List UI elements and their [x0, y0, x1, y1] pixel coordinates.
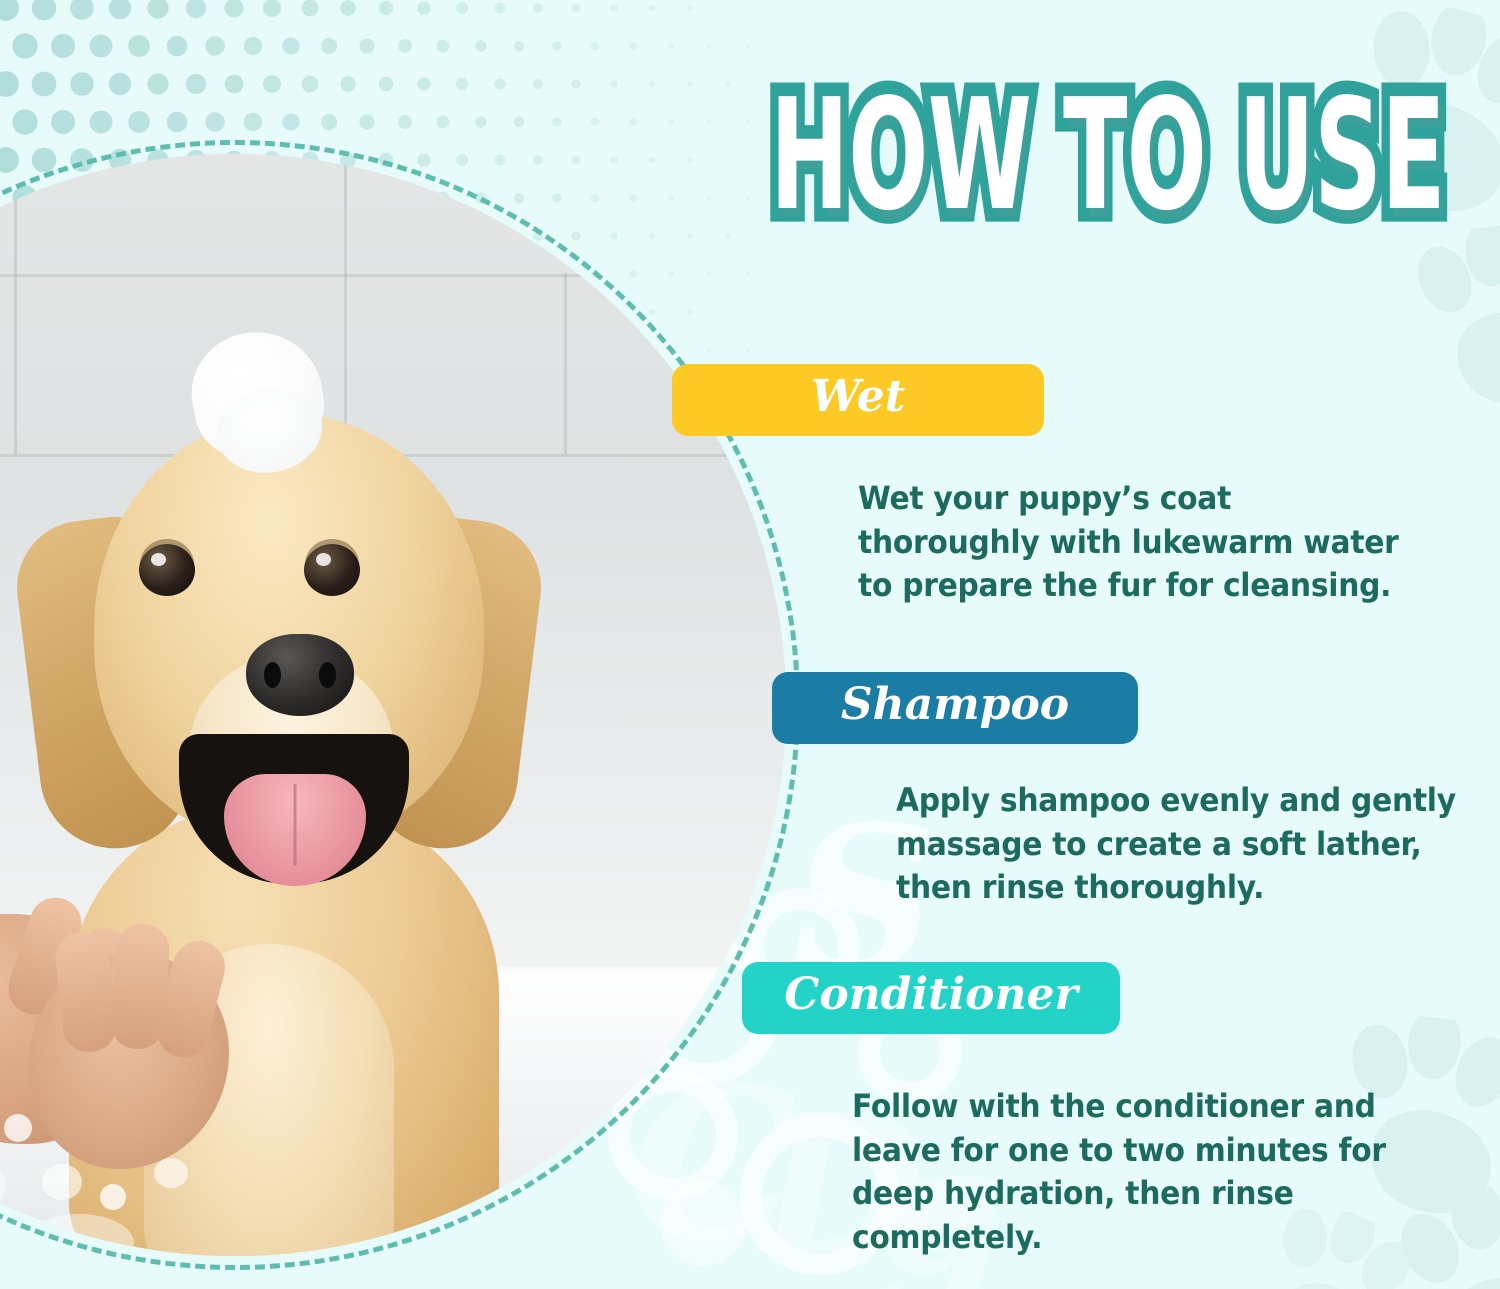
- paw-print-icon: [1409, 218, 1500, 425]
- step-badge-label-shampoo: Shampoo: [841, 683, 1069, 727]
- step-badge-label-conditioner: Conditioner: [784, 973, 1077, 1017]
- step-badge-shampoo[interactable]: Shampoo: [772, 672, 1138, 744]
- page-title: HOW TO USE: [770, 78, 1445, 231]
- step-body-wet: Wet your puppy’s coat thoroughly with lu…: [858, 477, 1416, 608]
- step-badge-label-wet: Wet: [811, 375, 905, 419]
- step-badge-wet[interactable]: Wet: [672, 364, 1044, 436]
- step-body-shampoo: Apply shampoo evenly and gently massage …: [896, 779, 1473, 910]
- step-body-conditioner: Follow with the conditioner and leave fo…: [852, 1085, 1447, 1259]
- infographic-canvas: S C D g: [0, 0, 1500, 1289]
- dog-bath-photo: [0, 140, 800, 1270]
- step-badge-conditioner[interactable]: Conditioner: [742, 962, 1120, 1034]
